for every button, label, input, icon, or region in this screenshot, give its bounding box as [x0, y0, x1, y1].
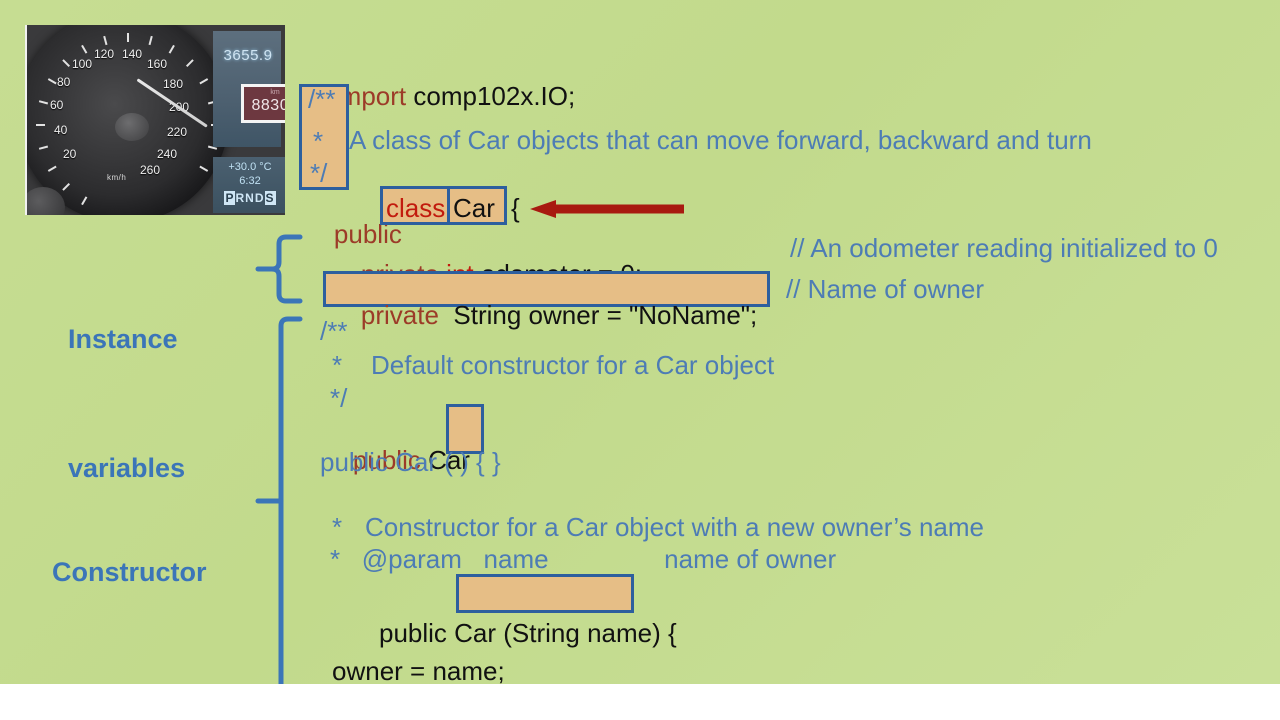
javadoc-param-name: Constructor for a Car object with a new …: [365, 514, 984, 540]
javadoc-open-2: /**: [320, 318, 347, 344]
comment-odometer: // An odometer reading initialized to 0: [790, 235, 1218, 261]
label-constructor-declarations: Constructor declarations: [52, 465, 211, 684]
label-constructor-declarations-line1: Constructor: [52, 551, 211, 594]
javadoc-open-3: public Car ( ) { }: [320, 449, 501, 475]
javadoc-close-1: */: [310, 160, 327, 186]
bottom-white-strip: [0, 684, 1280, 720]
javadoc-close-3: * @param name name of owner: [330, 546, 836, 572]
javadoc-text-default-constructor: Default constructor for a Car object: [371, 352, 774, 378]
modifier-private-owner: private: [361, 300, 446, 330]
keyword-class: class: [386, 195, 445, 221]
class-name-car: Car: [453, 195, 502, 221]
javadoc-open-1: /**: [308, 86, 335, 112]
brace-instance-variables: [272, 237, 300, 301]
red-pointer-arrow: [524, 200, 688, 218]
code-line-named-constructor: [324, 582, 353, 660]
javadoc-star-1: *: [313, 128, 323, 154]
code-line-close-brace: owner = name;: [332, 658, 505, 684]
javadoc-star-2: *: [332, 352, 342, 378]
javadoc-close-2: */: [330, 385, 347, 411]
import-package: comp102x.IO;: [406, 81, 575, 111]
label-instance-variables-line1: Instance: [68, 318, 185, 361]
class-open-brace: {: [511, 195, 520, 221]
code-line-assign-owner: public Car (String name) {: [379, 620, 677, 646]
comment-owner: // Name of owner: [786, 276, 984, 302]
javadoc-text-class-description: A class of Car objects that can move for…: [349, 127, 1092, 153]
highlight-parameter-list: [456, 574, 634, 613]
slide-canvas: 20 40 60 80 100 120 140 160 180 200 220 …: [0, 0, 1280, 684]
brace-constructor-declarations: [281, 319, 300, 684]
javadoc-star-4: *: [332, 514, 342, 540]
code-line-field-owner: private String owner = "NoName";: [332, 276, 757, 354]
field-owner-rest: String owner = "NoName";: [446, 300, 757, 330]
